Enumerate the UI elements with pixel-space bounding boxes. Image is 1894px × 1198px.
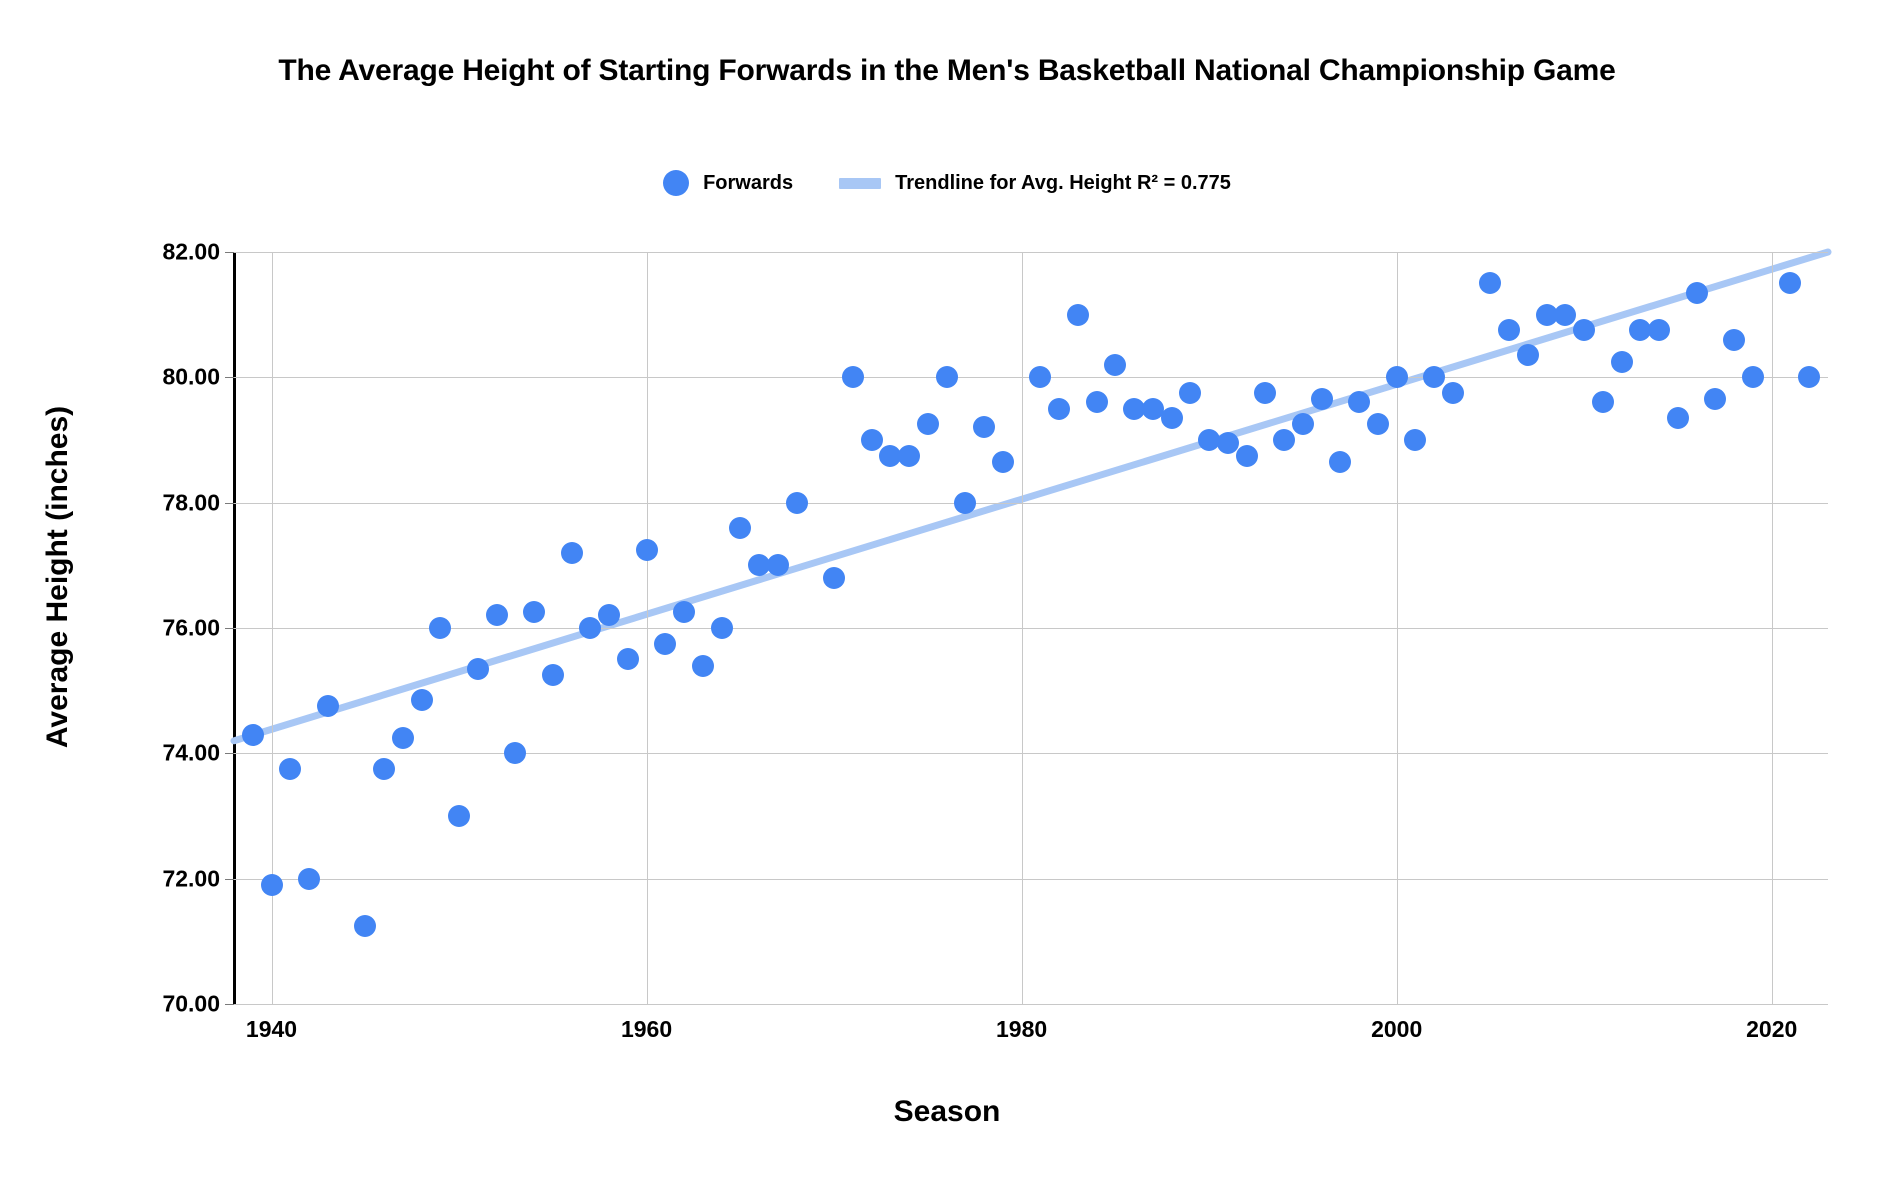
scatter-point[interactable] — [1779, 272, 1801, 294]
scatter-point[interactable] — [429, 617, 451, 639]
scatter-point[interactable] — [1442, 382, 1464, 404]
scatter-point[interactable] — [1554, 304, 1576, 326]
scatter-point[interactable] — [1498, 319, 1520, 341]
scatter-point[interactable] — [411, 689, 433, 711]
scatter-point[interactable] — [711, 617, 733, 639]
y-axis-tick-label: 80.00 — [90, 364, 220, 391]
y-axis-tick-mark — [225, 879, 234, 880]
x-axis-tick-label: 2000 — [1337, 1016, 1457, 1043]
scatter-point[interactable] — [1798, 366, 1820, 388]
scatter-point[interactable] — [1029, 366, 1051, 388]
scatter-point[interactable] — [1329, 451, 1351, 473]
scatter-point[interactable] — [973, 416, 995, 438]
chart-container: The Average Height of Starting Forwards … — [0, 0, 1894, 1198]
y-axis-tick-mark — [225, 252, 234, 253]
y-axis-title: Average Height (inches) — [41, 257, 75, 897]
scatter-point[interactable] — [1217, 432, 1239, 454]
y-axis-tick-label: 72.00 — [90, 865, 220, 892]
scatter-point[interactable] — [1611, 351, 1633, 373]
x-axis-tick-label: 2020 — [1712, 1016, 1832, 1043]
y-axis-tick-labels: 70.0072.0074.0076.0078.0080.0082.00 — [90, 252, 220, 1004]
scatter-point[interactable] — [729, 517, 751, 539]
scatter-point[interactable] — [523, 601, 545, 623]
scatter-point[interactable] — [1311, 388, 1333, 410]
scatter-point[interactable] — [392, 727, 414, 749]
gridline-horizontal — [234, 252, 1828, 253]
gridline-vertical — [647, 252, 648, 1004]
scatter-point[interactable] — [1367, 413, 1389, 435]
scatter-point[interactable] — [917, 413, 939, 435]
legend-label-forwards: Forwards — [703, 172, 793, 195]
scatter-point[interactable] — [936, 366, 958, 388]
plot-area — [234, 252, 1828, 1004]
scatter-point[interactable] — [1348, 391, 1370, 413]
scatter-point[interactable] — [242, 724, 264, 746]
scatter-point[interactable] — [767, 554, 789, 576]
y-axis-tick-mark — [225, 1004, 234, 1005]
gridline-horizontal — [234, 628, 1828, 629]
scatter-point[interactable] — [898, 445, 920, 467]
scatter-point[interactable] — [561, 542, 583, 564]
scatter-point[interactable] — [992, 451, 1014, 473]
legend-item-forwards[interactable]: Forwards — [663, 170, 793, 196]
scatter-point[interactable] — [654, 633, 676, 655]
gridline-vertical — [1397, 252, 1398, 1004]
scatter-point[interactable] — [448, 805, 470, 827]
y-axis-tick-label: 78.00 — [90, 489, 220, 516]
scatter-point[interactable] — [617, 648, 639, 670]
scatter-point[interactable] — [1723, 329, 1745, 351]
scatter-point[interactable] — [1686, 282, 1708, 304]
scatter-point[interactable] — [1573, 319, 1595, 341]
x-axis-title: Season — [0, 1095, 1894, 1129]
y-axis-tick-mark — [225, 377, 234, 378]
y-axis-tick-mark — [225, 503, 234, 504]
scatter-point[interactable] — [1423, 366, 1445, 388]
x-axis-tick-label: 1980 — [962, 1016, 1082, 1043]
gridline-vertical — [1022, 252, 1023, 1004]
scatter-point[interactable] — [1067, 304, 1089, 326]
scatter-point[interactable] — [786, 492, 808, 514]
y-axis-tick-label: 74.00 — [90, 740, 220, 767]
line-swatch-icon — [839, 178, 881, 189]
circle-dot-icon — [663, 170, 689, 196]
gridline-horizontal — [234, 503, 1828, 504]
scatter-point[interactable] — [298, 868, 320, 890]
gridline-vertical — [1772, 252, 1773, 1004]
scatter-point[interactable] — [954, 492, 976, 514]
gridline-horizontal — [234, 753, 1828, 754]
scatter-point[interactable] — [1048, 398, 1070, 420]
scatter-point[interactable] — [486, 604, 508, 626]
x-axis-tick-label: 1960 — [587, 1016, 707, 1043]
y-axis-tick-mark — [225, 628, 234, 629]
scatter-point[interactable] — [279, 758, 301, 780]
scatter-point[interactable] — [1086, 391, 1108, 413]
scatter-point[interactable] — [673, 601, 695, 623]
gridline-horizontal — [234, 1004, 1828, 1005]
chart-legend: Forwards Trendline for Avg. Height R² = … — [0, 170, 1894, 196]
scatter-point[interactable] — [598, 604, 620, 626]
scatter-point[interactable] — [1254, 382, 1276, 404]
scatter-point[interactable] — [504, 742, 526, 764]
y-axis-tick-label: 70.00 — [90, 991, 220, 1018]
scatter-point[interactable] — [1592, 391, 1614, 413]
legend-item-trendline[interactable]: Trendline for Avg. Height R² = 0.775 — [839, 172, 1231, 195]
scatter-point[interactable] — [823, 567, 845, 589]
y-axis-tick-mark — [225, 753, 234, 754]
scatter-point[interactable] — [542, 664, 564, 686]
x-axis-tick-labels: 19401960198020002020 — [234, 1004, 1828, 1064]
scatter-point[interactable] — [1704, 388, 1726, 410]
scatter-point[interactable] — [1179, 382, 1201, 404]
legend-label-trendline: Trendline for Avg. Height R² = 0.775 — [895, 172, 1231, 195]
scatter-point[interactable] — [1161, 407, 1183, 429]
scatter-point[interactable] — [354, 915, 376, 937]
scatter-point[interactable] — [692, 655, 714, 677]
scatter-point[interactable] — [1273, 429, 1295, 451]
y-axis-tick-label: 76.00 — [90, 615, 220, 642]
y-axis-tick-label: 82.00 — [90, 239, 220, 266]
chart-title: The Average Height of Starting Forwards … — [147, 52, 1747, 90]
scatter-point[interactable] — [1386, 366, 1408, 388]
scatter-point[interactable] — [1517, 344, 1539, 366]
scatter-point[interactable] — [1292, 413, 1314, 435]
scatter-point[interactable] — [579, 617, 601, 639]
scatter-point[interactable] — [861, 429, 883, 451]
x-axis-tick-label: 1940 — [212, 1016, 332, 1043]
scatter-point[interactable] — [1104, 354, 1126, 376]
scatter-point[interactable] — [842, 366, 864, 388]
gridline-horizontal — [234, 879, 1828, 880]
scatter-point[interactable] — [373, 758, 395, 780]
scatter-point[interactable] — [1648, 319, 1670, 341]
scatter-point[interactable] — [1404, 429, 1426, 451]
scatter-point[interactable] — [317, 695, 339, 717]
scatter-point[interactable] — [467, 658, 489, 680]
scatter-point[interactable] — [636, 539, 658, 561]
scatter-point[interactable] — [1236, 445, 1258, 467]
scatter-point[interactable] — [1667, 407, 1689, 429]
scatter-point[interactable] — [261, 874, 283, 896]
scatter-point[interactable] — [1479, 272, 1501, 294]
scatter-point[interactable] — [1742, 366, 1764, 388]
